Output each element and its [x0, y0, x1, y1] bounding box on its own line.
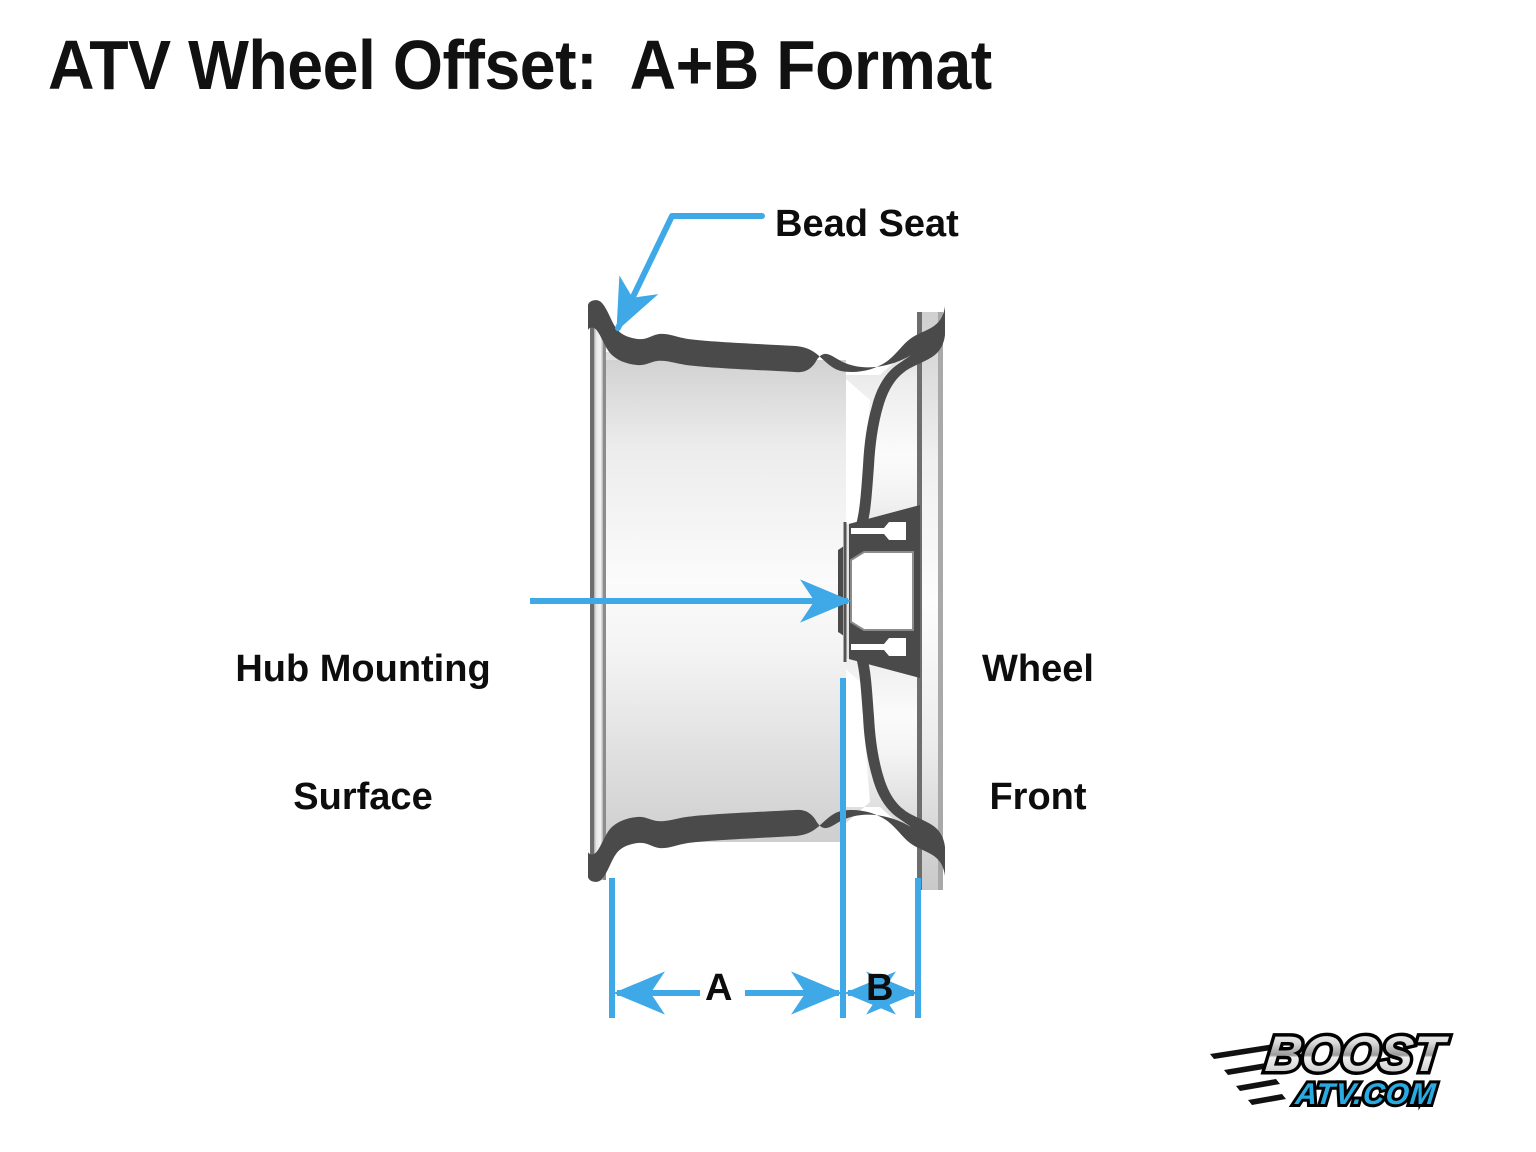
label-wheel-front-line1: Wheel: [968, 648, 1108, 691]
wheel-center-bore: [851, 552, 913, 630]
label-bead-seat: Bead Seat: [775, 203, 959, 246]
label-wheel-front: Wheel Front: [968, 563, 1108, 861]
label-dimension-b: B: [866, 967, 893, 1010]
bead-seat-annotation: [618, 216, 762, 328]
logo-domain-text: ATV.COM: [1293, 1078, 1438, 1111]
boost-atv-logo: BOOST ATV.COM: [1208, 1016, 1508, 1126]
label-wheel-front-line2: Front: [968, 776, 1108, 819]
label-hub-mounting-surface: Hub Mounting Surface: [213, 563, 513, 861]
wheel-profile-group: [588, 300, 945, 890]
label-dimension-a: A: [705, 967, 732, 1010]
label-hub-line2: Surface: [213, 776, 513, 819]
wheel-outer-face-edge-light: [938, 312, 943, 890]
label-hub-line1: Hub Mounting: [213, 648, 513, 691]
bead-seat-leader-arrow: [618, 216, 762, 328]
logo-brand-text: BOOST: [1263, 1026, 1451, 1082]
